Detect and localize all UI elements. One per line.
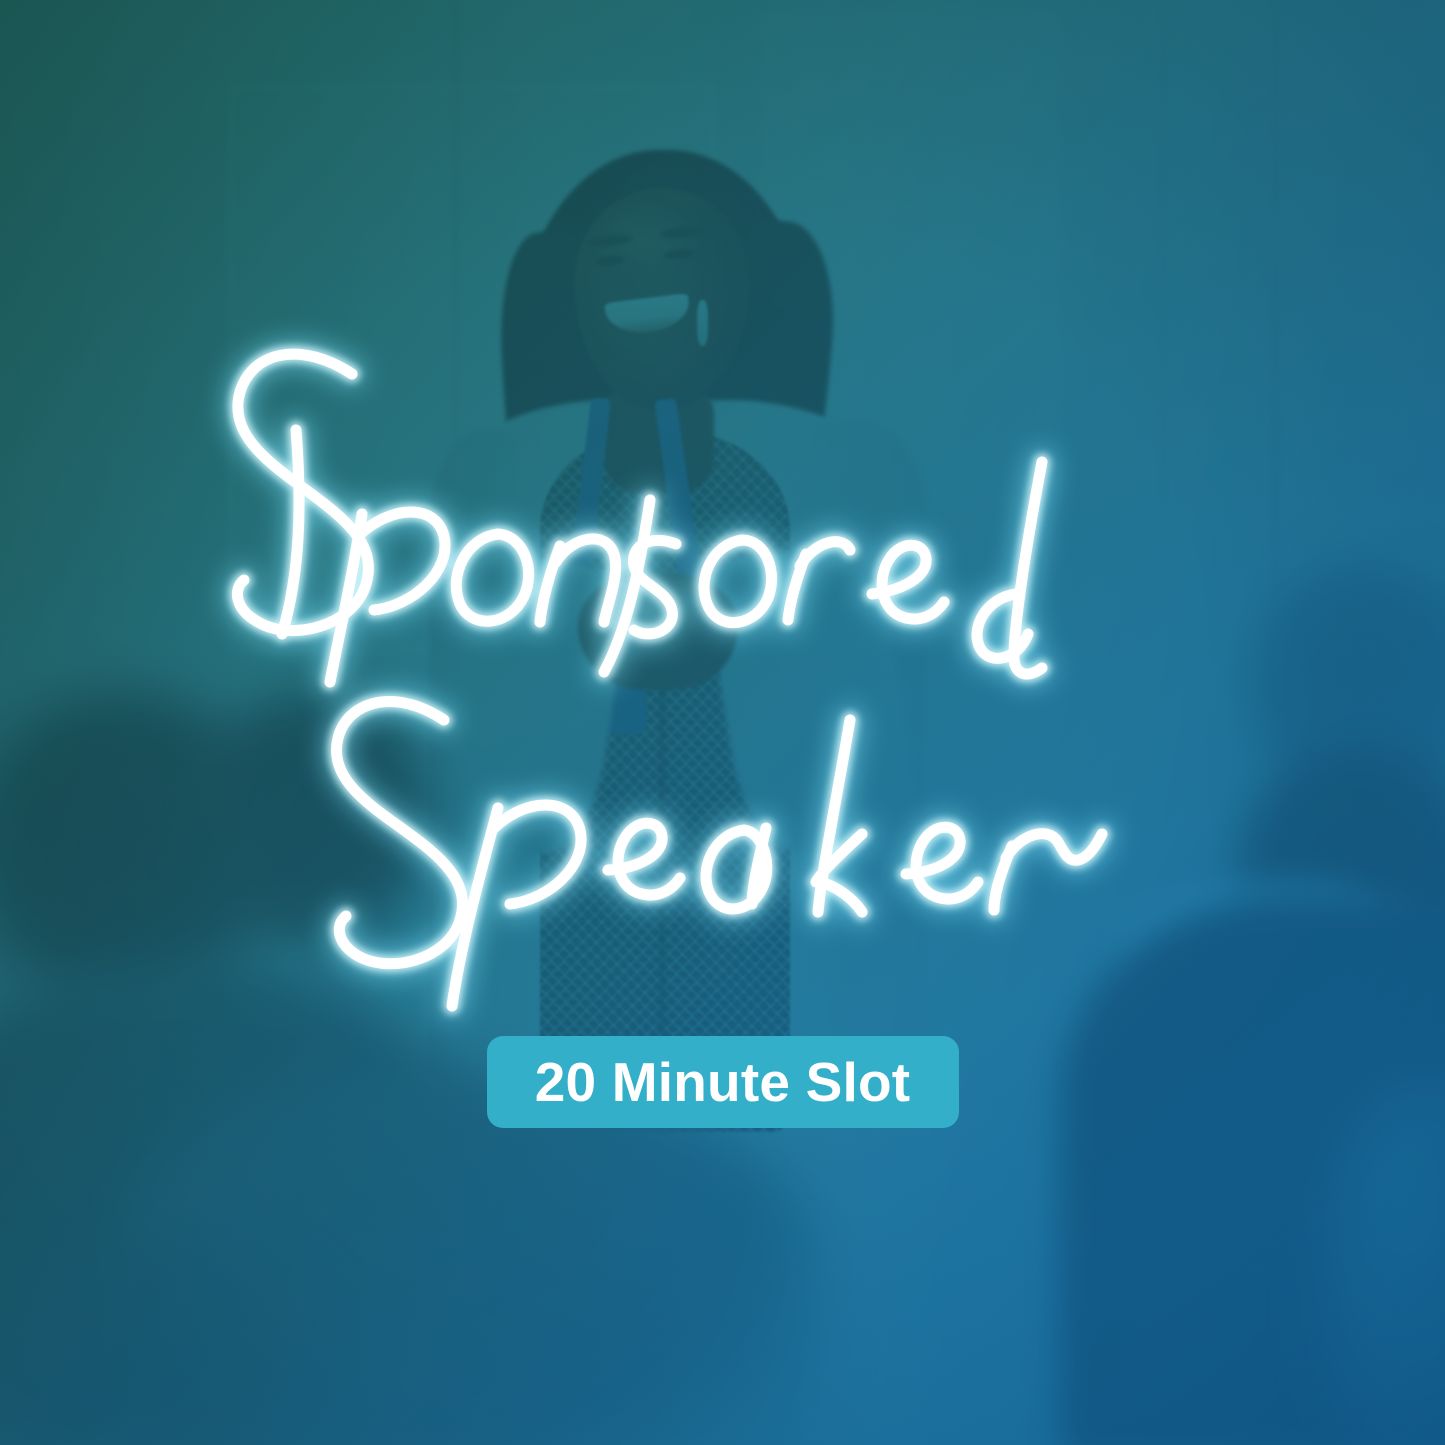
vignette [0, 0, 1445, 1445]
sponsored-speaker-promo-card: 20 Minute Slot [0, 0, 1445, 1445]
minute-slot-button[interactable]: 20 Minute Slot [487, 1036, 959, 1128]
